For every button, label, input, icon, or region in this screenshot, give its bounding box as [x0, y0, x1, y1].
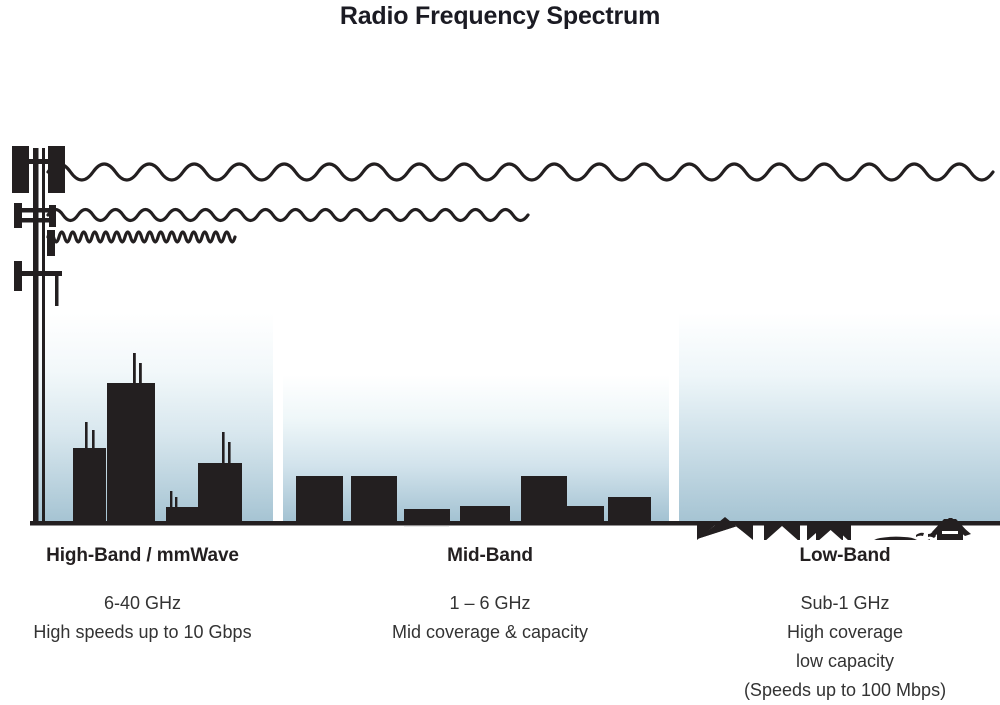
band-frequency-low: Sub-1 GHz [700, 589, 990, 618]
tower-panel-left-1 [12, 146, 29, 193]
tower-crossarm-4 [22, 271, 62, 276]
tower-panel-right-2 [49, 205, 56, 227]
band-column-high: High-Band / mmWave 6-40 GHz High speeds … [0, 545, 285, 647]
sky-panel-low [679, 313, 1000, 521]
building-mid-i [567, 506, 604, 521]
antenna-spire [170, 491, 172, 509]
building-high-4 [198, 463, 242, 521]
band-title-mid: Mid-Band [345, 545, 635, 567]
building-mid-c [404, 509, 450, 521]
low-band-wave [48, 164, 993, 180]
building-mid-h [521, 476, 567, 521]
cow-silhouette [863, 533, 936, 540]
antenna-spire [133, 353, 136, 385]
tower-panel-left-4 [14, 261, 22, 291]
band-frequency-high: 6-40 GHz [0, 589, 285, 618]
cow-body [866, 537, 930, 540]
barn-loft-window [942, 531, 958, 534]
ground-line [30, 521, 1000, 526]
spectrum-illustration [0, 60, 1000, 540]
antenna-spire [175, 497, 177, 509]
band-labels: High-Band / mmWave 6-40 GHz High speeds … [0, 545, 1000, 695]
tower-panel-3 [47, 230, 55, 256]
mid-band-wave [48, 210, 528, 221]
building-mid-g [460, 506, 510, 521]
band-speed-low: (Speeds up to 100 Mbps) [700, 676, 990, 705]
tower-panel-left-2 [14, 203, 22, 228]
page-title: Radio Frequency Spectrum [0, 2, 1000, 31]
tower-crossarm-2b [22, 218, 50, 223]
band-column-mid: Mid-Band 1 – 6 GHz Mid coverage & capaci… [345, 545, 635, 647]
building-high-1 [73, 448, 106, 521]
band-title-low: Low-Band [700, 545, 990, 567]
band-title-high: High-Band / mmWave [0, 545, 285, 567]
building-high-3 [166, 507, 198, 521]
spectrum-figure [0, 60, 1000, 540]
tower-mast-lower [55, 276, 59, 306]
sky-panels [36, 313, 1000, 521]
cow-horn-left [916, 533, 924, 537]
antenna-spire [92, 430, 95, 450]
antenna-spire [222, 432, 225, 465]
infographic-root: Radio Frequency Spectrum [0, 0, 1000, 700]
tower-mast-secondary [42, 148, 45, 522]
band-description-mid: Mid coverage & capacity [345, 618, 635, 647]
antenna-spire [85, 422, 88, 450]
antenna-spire [228, 442, 231, 465]
high-band-wave [48, 232, 235, 242]
building-mid-a [296, 476, 343, 521]
band-coverage-low: High coverage [700, 618, 990, 647]
antenna-spire [139, 363, 142, 385]
band-frequency-mid: 1 – 6 GHz [345, 589, 635, 618]
band-description-high: High speeds up to 10 Gbps [0, 618, 285, 647]
radio-waves [48, 164, 993, 242]
tower-crossarm-2a [22, 208, 50, 213]
tower-crossarm-1 [29, 159, 51, 164]
tower-mast [33, 148, 39, 522]
band-capacity-low: low capacity [700, 647, 990, 676]
band-column-low: Low-Band Sub-1 GHz High coverage low cap… [700, 545, 990, 705]
building-mid-j [608, 497, 651, 521]
building-mid-b [351, 476, 397, 521]
building-high-2 [107, 383, 155, 521]
tower-panel-right-1 [48, 146, 65, 193]
